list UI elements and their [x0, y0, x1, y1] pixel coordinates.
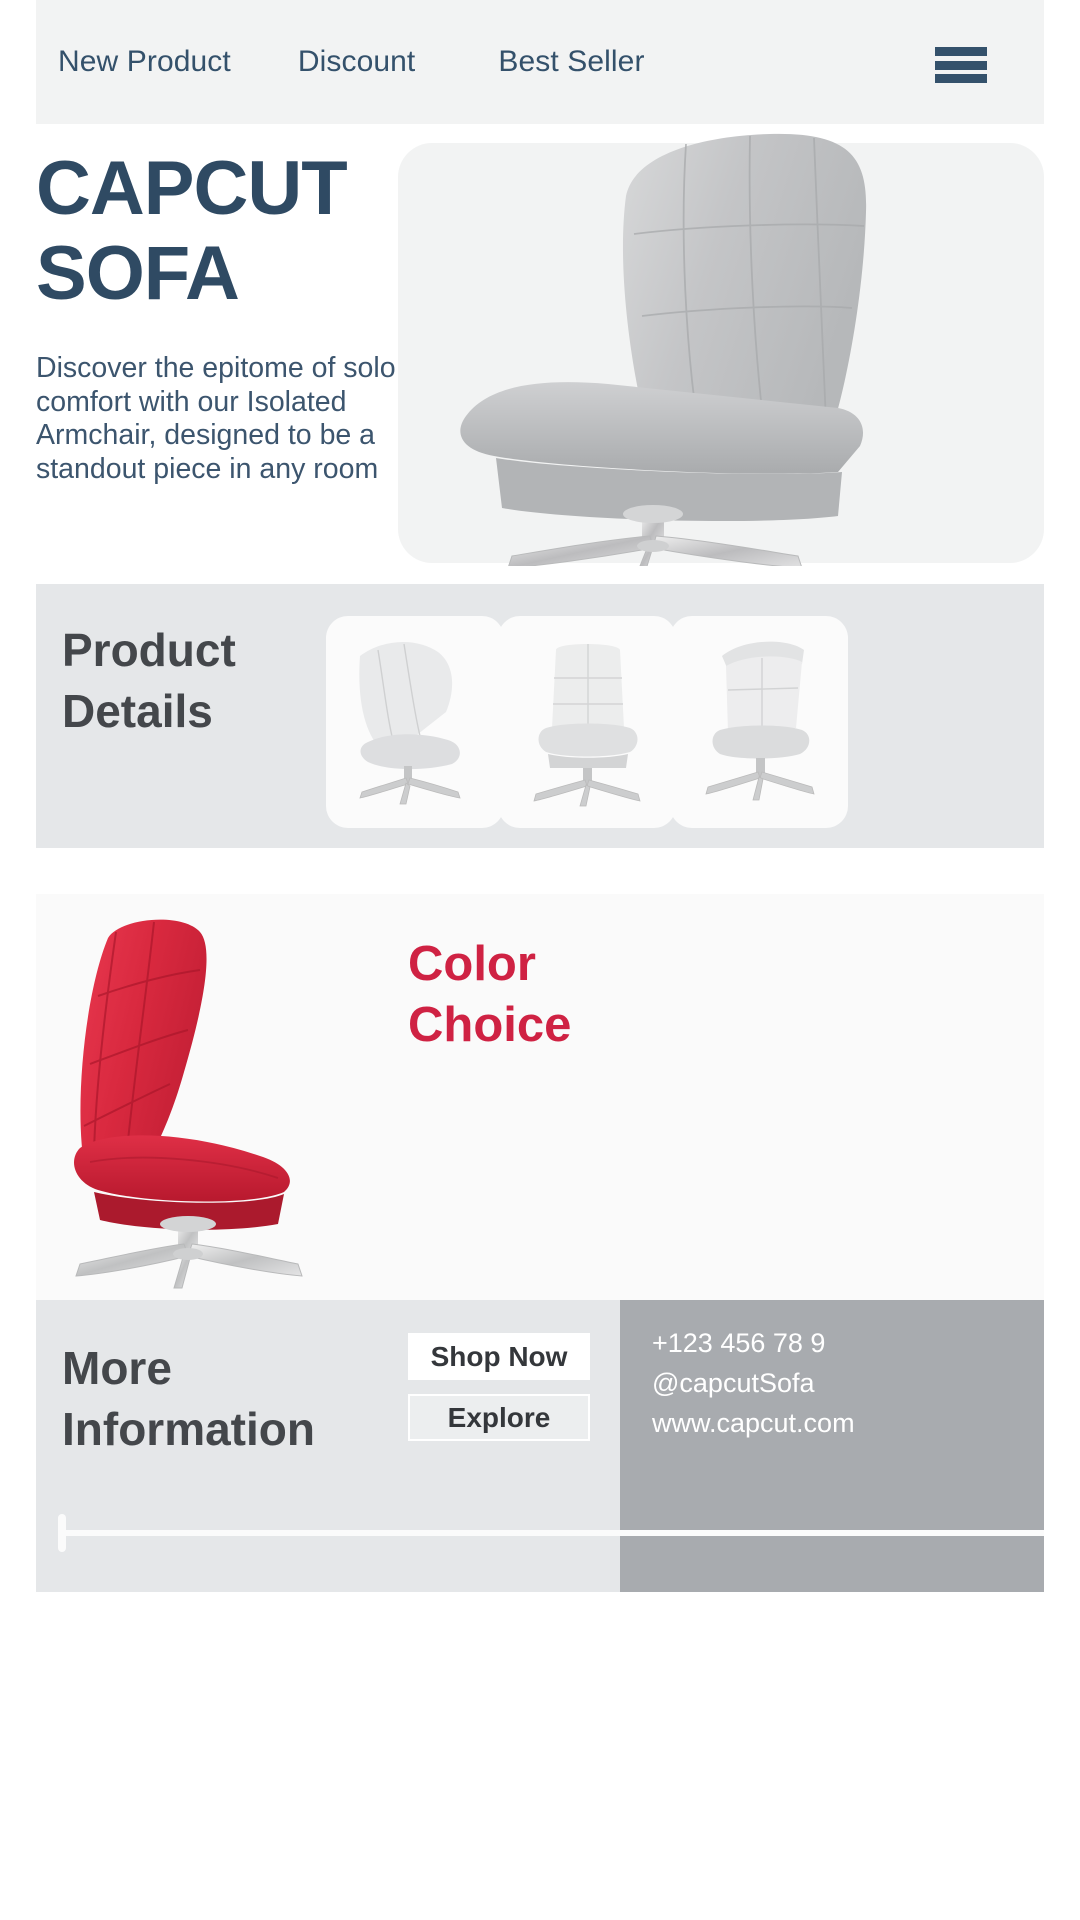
- armchair-back-icon: [670, 616, 848, 828]
- contact-social[interactable]: @capcutSofa: [652, 1364, 1044, 1404]
- hamburger-bar: [935, 74, 987, 83]
- hamburger-bar: [935, 47, 987, 56]
- footer-title: More Information: [62, 1338, 402, 1459]
- nav-item-new-product[interactable]: New Product: [58, 45, 231, 79]
- main-nav: New Product Discount Best Seller: [36, 45, 645, 79]
- color-swatch-grid: [410, 1090, 794, 1136]
- divider-bg-left: [36, 1512, 620, 1592]
- contact-phone[interactable]: +123 456 78 9: [652, 1324, 1044, 1364]
- hero-product-image: [398, 116, 1044, 566]
- armchair-front-icon: [498, 616, 676, 828]
- swatch-row: [458, 1099, 506, 1136]
- hamburger-icon[interactable]: [935, 47, 987, 83]
- color-choice-title: Color Choice: [408, 934, 708, 1057]
- color-choice-section: Color Choice: [36, 894, 1044, 1300]
- more-information-section: More Information Shop Now Explore +123 4…: [36, 1300, 1044, 1512]
- hero-description: Discover the epitome of solo comfort wit…: [36, 352, 416, 487]
- color-choice-product-image: [54, 912, 414, 1300]
- nav-item-best-seller[interactable]: Best Seller: [498, 45, 644, 79]
- promo-page: New Product Discount Best Seller CAPCUT …: [0, 0, 1080, 1920]
- thumbnail-card-front[interactable]: [498, 616, 676, 828]
- swatch-row: [410, 1090, 458, 1136]
- divider-bg-right: [620, 1512, 1044, 1592]
- shop-now-button[interactable]: Shop Now: [408, 1333, 590, 1380]
- divider-line: [60, 1530, 1044, 1536]
- divider-tick: [58, 1514, 66, 1552]
- footer-divider: [36, 1512, 1044, 1592]
- product-details-section: Product Details: [36, 584, 1044, 848]
- hamburger-bar: [935, 61, 987, 70]
- contact-panel: +123 456 78 9 @capcutSofa www.capcut.com: [620, 1300, 1044, 1512]
- nav-item-discount[interactable]: Discount: [298, 45, 416, 79]
- thumbnail-card-back[interactable]: [670, 616, 848, 828]
- contact-website[interactable]: www.capcut.com: [652, 1404, 1044, 1444]
- armchair-side-icon: [326, 616, 504, 828]
- site-header: New Product Discount Best Seller: [36, 0, 1044, 124]
- thumbnail-card-side[interactable]: [326, 616, 504, 828]
- explore-button[interactable]: Explore: [408, 1394, 590, 1441]
- product-details-title: Product Details: [62, 620, 362, 741]
